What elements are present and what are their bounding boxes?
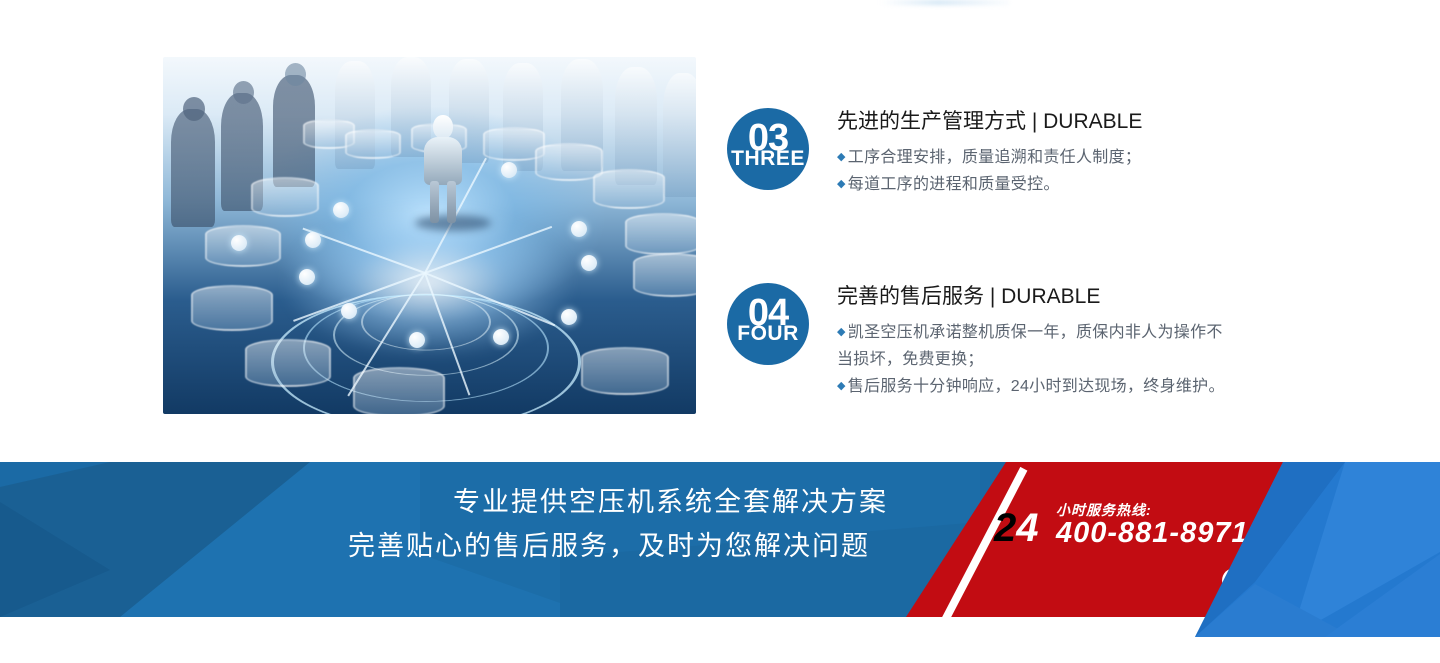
- twentyfour-digit-4: 4: [1016, 506, 1038, 550]
- feature-bullet-list-03: ◆工序合理安排，质量追溯和责任人制度； ◆每道工序的进程和质量受控。: [837, 144, 1257, 198]
- feature-title-cn: 先进的生产管理方式: [837, 110, 1026, 133]
- feature-bullet-item: ◆每道工序的进程和质量受控。: [837, 171, 1257, 198]
- central-human-figure: [420, 115, 466, 223]
- badge-word: THREE: [727, 148, 809, 170]
- top-edge-artifact: [880, 0, 1010, 5]
- feature-title-sep: |: [984, 285, 1001, 308]
- feature-body-04: 完善的售后服务 | DURABLE ◆凯圣空压机承诺整机质保一年，质保内非人为操…: [837, 283, 1237, 400]
- slogan-line-1: 专业提供空压机系统全套解决方案: [0, 480, 888, 524]
- network-node: [305, 232, 321, 248]
- network-node: [571, 221, 587, 237]
- network-illustration-image: [163, 57, 696, 414]
- feature-title-sep: |: [1026, 110, 1043, 133]
- feature-bullet-item: ◆凯圣空压机承诺整机质保一年，质保内非人为操作不当损坏，免费更换；: [837, 319, 1237, 373]
- feature-bullet-text: 售后服务十分钟响应，24小时到达现场，终身维护。: [848, 378, 1225, 395]
- feature-bullet-item: ◆售后服务十分钟响应，24小时到达现场，终身维护。: [837, 373, 1237, 400]
- diamond-bullet-icon: ◆: [837, 178, 846, 190]
- feature-bullet-list-04: ◆凯圣空压机承诺整机质保一年，质保内非人为操作不当损坏，免费更换； ◆售后服务十…: [837, 319, 1237, 400]
- network-node: [341, 303, 357, 319]
- twentyfour-graphic: 24: [994, 506, 1064, 550]
- network-node: [333, 202, 349, 218]
- feature-title-en: DURABLE: [1001, 285, 1100, 308]
- slogan-line-2: 完善贴心的售后服务，及时为您解决问题: [0, 524, 888, 568]
- badge-word: FOUR: [727, 323, 809, 345]
- network-node: [409, 332, 425, 348]
- network-node: [561, 309, 577, 325]
- network-node: [581, 255, 597, 271]
- network-node: [493, 329, 509, 345]
- feature-title-03: 先进的生产管理方式 | DURABLE: [837, 108, 1257, 136]
- diamond-bullet-icon: ◆: [837, 151, 846, 163]
- network-node: [299, 269, 315, 285]
- network-node: [231, 235, 247, 251]
- banner-slogan: 专业提供空压机系统全套解决方案 完善贴心的售后服务，及时为您解决问题: [0, 480, 910, 568]
- feature-title-cn: 完善的售后服务: [837, 285, 984, 308]
- banner-right-wedge: [1195, 462, 1440, 663]
- feature-title-04: 完善的售后服务 | DURABLE: [837, 283, 1237, 311]
- diamond-bullet-icon: ◆: [837, 326, 846, 338]
- diamond-bullet-icon: ◆: [837, 380, 846, 392]
- network-node: [501, 162, 517, 178]
- feature-title-en: DURABLE: [1043, 110, 1142, 133]
- twentyfour-digit-2: 2: [994, 506, 1016, 550]
- badge-03: 03 THREE: [727, 108, 809, 190]
- feature-bullet-text: 凯圣空压机承诺整机质保一年，质保内非人为操作不当损坏，免费更换；: [837, 324, 1223, 368]
- bottom-promo-banner: 专业提供空压机系统全套解决方案 完善贴心的售后服务，及时为您解决问题 24 小时…: [0, 462, 1440, 663]
- feature-body-03: 先进的生产管理方式 | DURABLE ◆工序合理安排，质量追溯和责任人制度； …: [837, 108, 1257, 198]
- feature-bullet-text: 每道工序的进程和质量受控。: [848, 176, 1060, 193]
- feature-bullet-text: 工序合理安排，质量追溯和责任人制度；: [848, 149, 1141, 166]
- badge-04: 04 FOUR: [727, 283, 809, 365]
- feature-bullet-item: ◆工序合理安排，质量追溯和责任人制度；: [837, 144, 1257, 171]
